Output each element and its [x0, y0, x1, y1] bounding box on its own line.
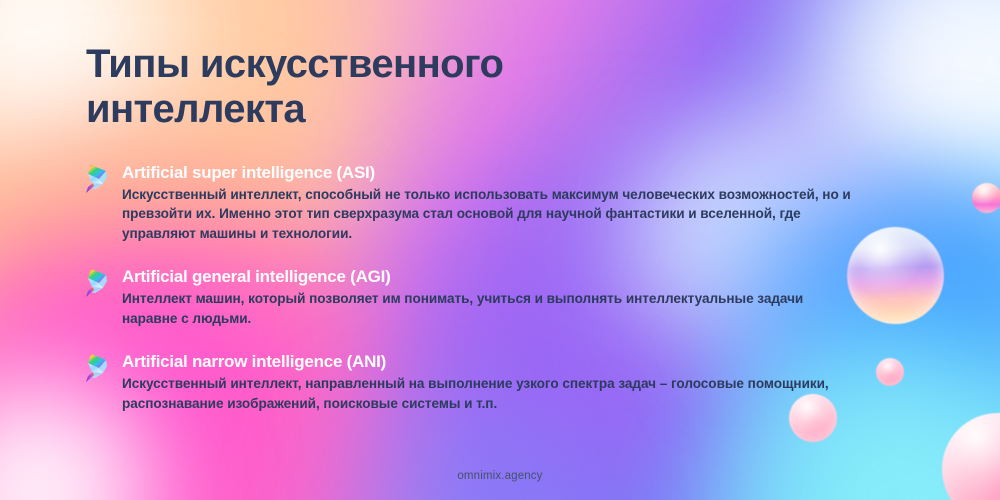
list-item-body: Интеллект машин, который позволяет им по… — [122, 289, 862, 328]
slide-content: Типы искусственного интеллекта — [0, 0, 1000, 500]
list-item: Artificial narrow intelligence (ANI) Иск… — [84, 351, 874, 413]
list-item-heading: Artificial general intelligence (AGI) — [122, 266, 874, 288]
list-item-heading: Artificial super intelligence (ASI) — [122, 162, 874, 184]
list-item: Artificial general intelligence (AGI) Ин… — [84, 266, 874, 328]
ai-types-list: Artificial super intelligence (ASI) Иску… — [84, 162, 874, 413]
footer-watermark: omnimix.agency — [0, 470, 1000, 482]
rainbow-prism-arrow-icon — [84, 351, 112, 383]
list-item: Artificial super intelligence (ASI) Иску… — [84, 162, 874, 243]
list-item-body: Искусственный интеллект, способный не то… — [122, 185, 862, 244]
list-item-body: Искусственный интеллект, направленный на… — [122, 374, 862, 413]
list-item-heading: Artificial narrow intelligence (ANI) — [122, 351, 874, 373]
slide-canvas: Типы искусственного интеллекта — [0, 0, 1000, 500]
page-title: Типы искусственного интеллекта — [86, 42, 706, 132]
rainbow-prism-arrow-icon — [84, 266, 112, 298]
rainbow-prism-arrow-icon — [84, 162, 112, 194]
